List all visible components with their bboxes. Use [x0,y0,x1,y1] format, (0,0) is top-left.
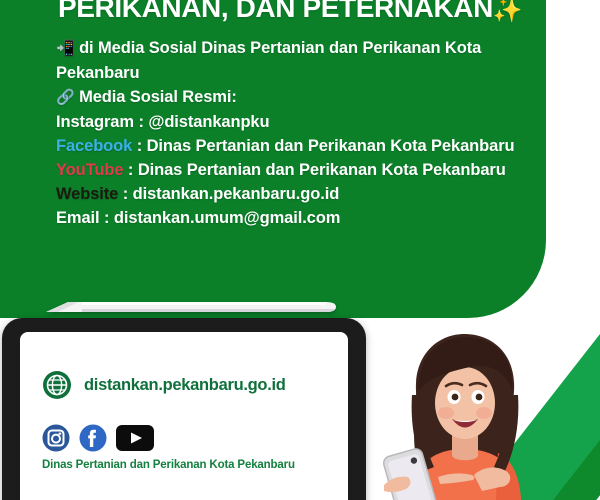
link-icon: 🔗 [56,89,75,106]
contact-separator: : [132,137,146,155]
facebook-icon[interactable] [79,424,107,452]
person-photo [378,325,558,500]
contact-website: Website : distankan.pekanbaru.go.id [56,182,526,206]
contact-label: Website [56,185,118,203]
website-url: distankan.pekanbaru.go.id [84,376,286,395]
follow-line: 📲 di Media Sosial Dinas Pertanian dan Pe… [56,36,526,85]
contact-value: distankan.umum@gmail.com [114,209,340,227]
contact-facebook: Facebook : Dinas Pertanian dan Perikanan… [56,134,526,158]
contact-value: @distankanpku [148,113,269,131]
contact-youtube: YouTube : Dinas Pertanian dan Perikanan … [56,158,526,182]
poster-body: 📲 di Media Sosial Dinas Pertanian dan Pe… [56,36,526,230]
contact-label: Email [56,209,100,227]
stylus-pen [38,300,338,314]
poster-canvas: PERIKANAN, DAN PETERNAKAN✨ 📲 di Media So… [0,0,600,500]
social-icon-row [42,424,338,452]
page-title: PERIKANAN, DAN PETERNAKAN✨ [58,0,522,23]
tablet-screen: distankan.pekanbaru.go.id [20,332,348,500]
instagram-icon[interactable] [42,424,70,452]
social-heading-text: Media Sosial Resmi: [79,88,237,106]
contact-email: Email : distankan.umum@gmail.com [56,206,526,230]
contact-separator: : [123,161,137,179]
contact-value: Dinas Pertanian dan Perikanan Kota Pekan… [138,161,506,179]
social-heading: 🔗 Media Sosial Resmi: [56,85,526,110]
contact-label: Instagram [56,113,134,131]
contact-label: YouTube [56,161,123,179]
contact-value: distankan.pekanbaru.go.id [133,185,340,203]
headline-text: PERIKANAN, DAN PETERNAKAN [58,0,493,23]
tablet-device: distankan.pekanbaru.go.id [2,318,366,500]
contact-value: Dinas Pertanian dan Perikanan Kota Pekan… [147,137,515,155]
website-row[interactable]: distankan.pekanbaru.go.id [42,370,338,400]
screen-caption: Dinas Pertanian dan Perikanan Kota Pekan… [42,459,338,471]
follow-line-text: di Media Sosial Dinas Pertanian dan Peri… [56,39,481,82]
mobile-phone-arrow-icon: 📲 [56,40,75,57]
contact-separator: : [100,209,114,227]
contact-label: Facebook [56,137,132,155]
globe-icon [42,370,72,400]
sparkles-icon: ✨ [493,0,522,24]
youtube-icon[interactable] [116,424,154,452]
contact-separator: : [134,113,148,131]
contact-separator: : [118,185,132,203]
contact-instagram: Instagram : @distankanpku [56,110,526,134]
screen-content: distankan.pekanbaru.go.id [42,370,338,471]
